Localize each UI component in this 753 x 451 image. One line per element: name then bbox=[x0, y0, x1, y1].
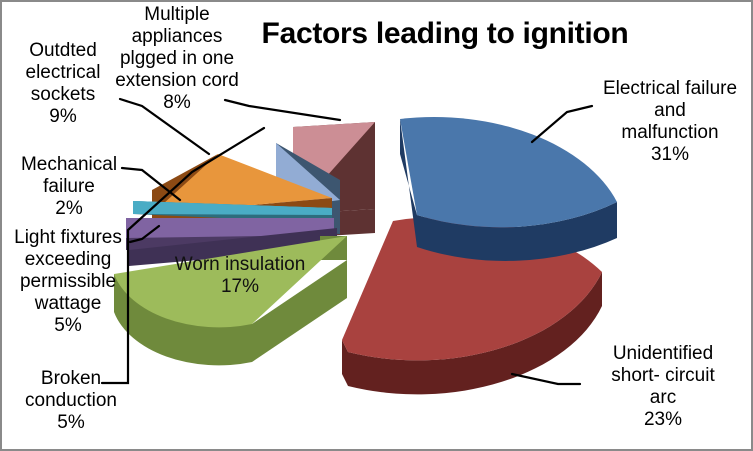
label-unidentified-arc: Unidentified short- circuit arc 23% bbox=[580, 343, 746, 431]
label-electrical-failure: Electrical failure and malfunction 31% bbox=[594, 78, 746, 166]
chart-canvas: Factors leading to ignition bbox=[0, 0, 753, 451]
label-multiple-appliances: Multiple appliances plgged in one extens… bbox=[102, 4, 252, 114]
label-mechanical-failure: Mechanical failure 2% bbox=[8, 154, 130, 220]
label-worn-insulation: Worn insulation 17% bbox=[160, 254, 320, 298]
slice-electrical-failure[interactable] bbox=[400, 117, 617, 261]
label-light-fixtures: Light fixtures exceeding permissible wat… bbox=[4, 227, 132, 337]
leader-electrical-failure bbox=[532, 106, 592, 142]
label-broken-conduction: Broken conduction 5% bbox=[14, 368, 128, 434]
leader-unidentified-arc bbox=[512, 374, 580, 384]
